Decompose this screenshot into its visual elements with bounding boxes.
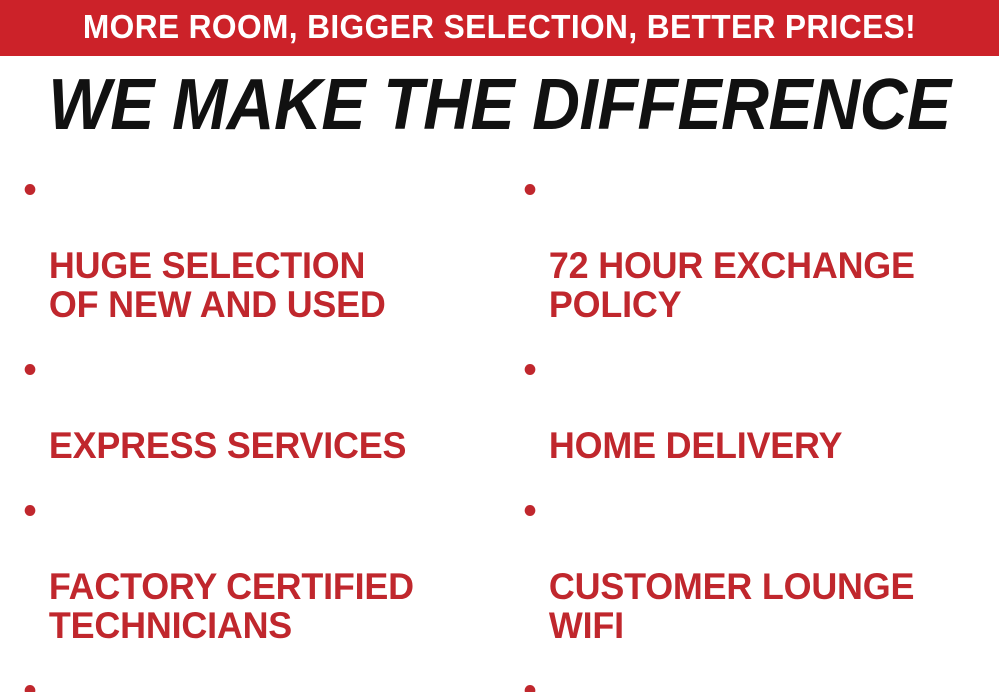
bullet-dot-icon bbox=[25, 505, 36, 516]
list-item-label: CUSTOMER LOUNGE WIFI bbox=[549, 566, 914, 646]
list-item: CUSTOMER LOUNGE WIFI bbox=[514, 489, 984, 645]
bullet-dot-icon bbox=[525, 685, 536, 692]
list-item: COMPLIMENTARY LOANER CARS bbox=[14, 669, 485, 692]
top-banner-text: MORE ROOM, BIGGER SELECTION, BETTER PRIC… bbox=[20, 0, 979, 56]
features-columns: HUGE SELECTION OF NEW AND USED EXPRESS S… bbox=[0, 160, 999, 692]
list-item-label: HOME DELIVERY bbox=[549, 425, 842, 466]
list-item-label: HUGE SELECTION OF NEW AND USED bbox=[49, 245, 386, 325]
features-column-left: HUGE SELECTION OF NEW AND USED EXPRESS S… bbox=[14, 160, 500, 692]
list-item: HOME DELIVERY bbox=[514, 348, 984, 465]
list-item-label: FACTORY CERTIFIED TECHNICIANS bbox=[49, 566, 414, 646]
bullet-dot-icon bbox=[525, 505, 536, 516]
bullet-dot-icon bbox=[525, 184, 536, 195]
list-item: MILITARY DISCOUNTS bbox=[514, 669, 984, 692]
list-item: EXPRESS SERVICES bbox=[14, 348, 485, 465]
bullet-dot-icon bbox=[25, 184, 36, 195]
list-item: FACTORY CERTIFIED TECHNICIANS bbox=[14, 489, 485, 645]
list-item-label: EXPRESS SERVICES bbox=[49, 425, 406, 466]
bullet-dot-icon bbox=[525, 364, 536, 375]
features-column-right: 72 HOUR EXCHANGE POLICY HOME DELIVERY CU… bbox=[514, 160, 999, 692]
top-banner: MORE ROOM, BIGGER SELECTION, BETTER PRIC… bbox=[0, 0, 999, 56]
list-item: HUGE SELECTION OF NEW AND USED bbox=[14, 168, 485, 324]
bullet-dot-icon bbox=[25, 685, 36, 692]
bullet-dot-icon bbox=[25, 364, 36, 375]
list-item: 72 HOUR EXCHANGE POLICY bbox=[514, 168, 984, 324]
list-item-label: 72 HOUR EXCHANGE POLICY bbox=[549, 245, 915, 325]
promo-poster: MORE ROOM, BIGGER SELECTION, BETTER PRIC… bbox=[0, 0, 999, 692]
page-title: WE MAKE THE DIFFERENCE bbox=[40, 66, 959, 144]
